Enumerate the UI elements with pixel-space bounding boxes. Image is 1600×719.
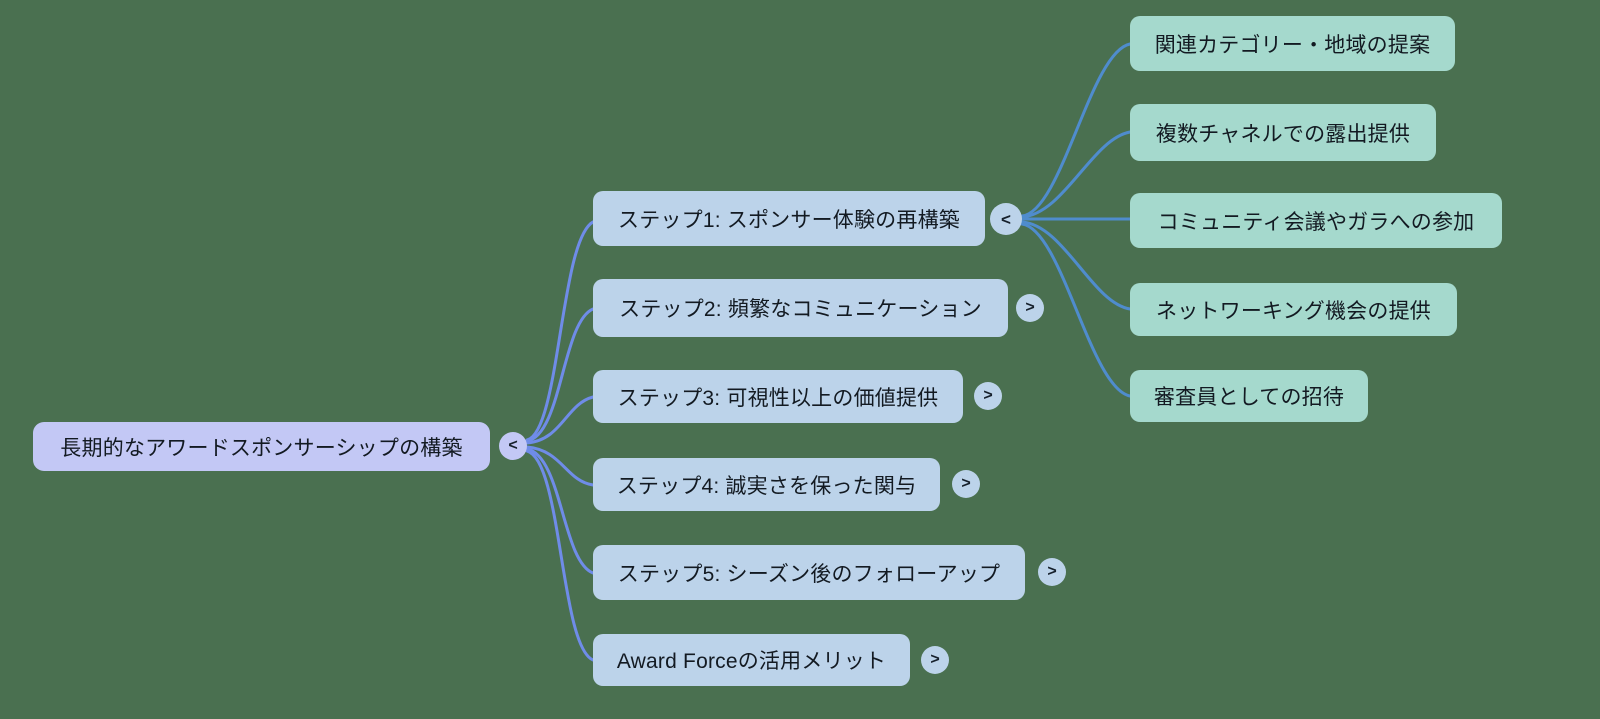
branch-expand-toggle-step5[interactable]: >: [1038, 558, 1066, 586]
root-collapse-toggle[interactable]: <: [499, 432, 527, 460]
leaf-node-3-label: コミュニティ会議やガラへの参加: [1150, 206, 1482, 236]
branch-node-step4[interactable]: ステップ4: 誠実さを保った関与: [593, 458, 940, 511]
root-node-label: 長期的なアワードスポンサーシップの構築: [55, 432, 468, 462]
leaf-node-2-label: 複数チャネルでの露出提供: [1150, 118, 1416, 148]
branch-node-step2-label: ステップ2: 頻繁なコミュニケーション: [613, 293, 988, 323]
step1-toggle-glyph-icon: <: [1001, 211, 1011, 228]
branch-node-step1[interactable]: ステップ1: スポンサー体験の再構築: [593, 191, 985, 246]
branch-node-awardforce[interactable]: Award Forceの活用メリット: [593, 634, 910, 686]
branch-expand-toggle-step2[interactable]: >: [1016, 294, 1044, 322]
step5-toggle-glyph-icon: >: [1047, 564, 1056, 580]
branch-node-awardforce-label: Award Forceの活用メリット: [613, 645, 890, 675]
branch-edges: [1022, 44, 1130, 396]
leaf-node-4-label: ネットワーキング機会の提供: [1150, 295, 1437, 325]
edge-step1-leaf2: [1022, 132, 1130, 217]
branch-expand-toggle-step3[interactable]: >: [974, 382, 1002, 410]
branch-node-step4-label: ステップ4: 誠実さを保った関与: [613, 470, 920, 500]
leaf-node-1-label: 関連カテゴリー・地域の提案: [1150, 29, 1435, 59]
branch-expand-toggle-awardforce[interactable]: >: [921, 646, 949, 674]
branch-node-step5[interactable]: ステップ5: シーズン後のフォローアップ: [593, 545, 1025, 600]
root-edges: [527, 222, 593, 660]
branch-node-step5-label: ステップ5: シーズン後のフォローアップ: [613, 558, 1005, 588]
leaf-node-5-label: 審査員としての招待: [1150, 381, 1348, 411]
branch-node-step1-label: ステップ1: スポンサー体験の再構築: [613, 204, 965, 234]
leaf-node-1[interactable]: 関連カテゴリー・地域の提案: [1130, 16, 1455, 71]
step4-toggle-glyph-icon: >: [961, 476, 970, 492]
branch-expand-toggle-step4[interactable]: >: [952, 470, 980, 498]
branch-collapse-toggle-step1[interactable]: <: [990, 203, 1022, 235]
leaf-node-4[interactable]: ネットワーキング機会の提供: [1130, 283, 1457, 336]
edge-root-step2: [527, 309, 593, 441]
branch-node-step3-label: ステップ3: 可視性以上の価値提供: [613, 382, 943, 412]
leaf-node-2[interactable]: 複数チャネルでの露出提供: [1130, 104, 1436, 161]
step2-toggle-glyph-icon: >: [1025, 300, 1034, 316]
edge-root-step4: [527, 447, 593, 485]
edge-root-step3: [527, 397, 593, 443]
root-node[interactable]: 長期的なアワードスポンサーシップの構築: [33, 422, 490, 471]
edge-root-step5: [527, 449, 593, 573]
edge-root-step1: [527, 222, 593, 440]
branch-node-step3[interactable]: ステップ3: 可視性以上の価値提供: [593, 370, 963, 423]
edge-step1-leaf1: [1022, 44, 1130, 216]
branch-node-step2[interactable]: ステップ2: 頻繁なコミュニケーション: [593, 279, 1008, 337]
mindmap-canvas: 長期的なアワードスポンサーシップの構築 < ステップ1: スポンサー体験の再構築…: [0, 0, 1600, 719]
edge-root-awardforce: [527, 451, 593, 660]
leaf-node-5[interactable]: 審査員としての招待: [1130, 370, 1368, 422]
awardforce-toggle-glyph-icon: >: [930, 652, 939, 668]
step3-toggle-glyph-icon: >: [983, 388, 992, 404]
root-toggle-glyph-icon: <: [508, 438, 517, 454]
leaf-node-3[interactable]: コミュニティ会議やガラへの参加: [1130, 193, 1502, 248]
